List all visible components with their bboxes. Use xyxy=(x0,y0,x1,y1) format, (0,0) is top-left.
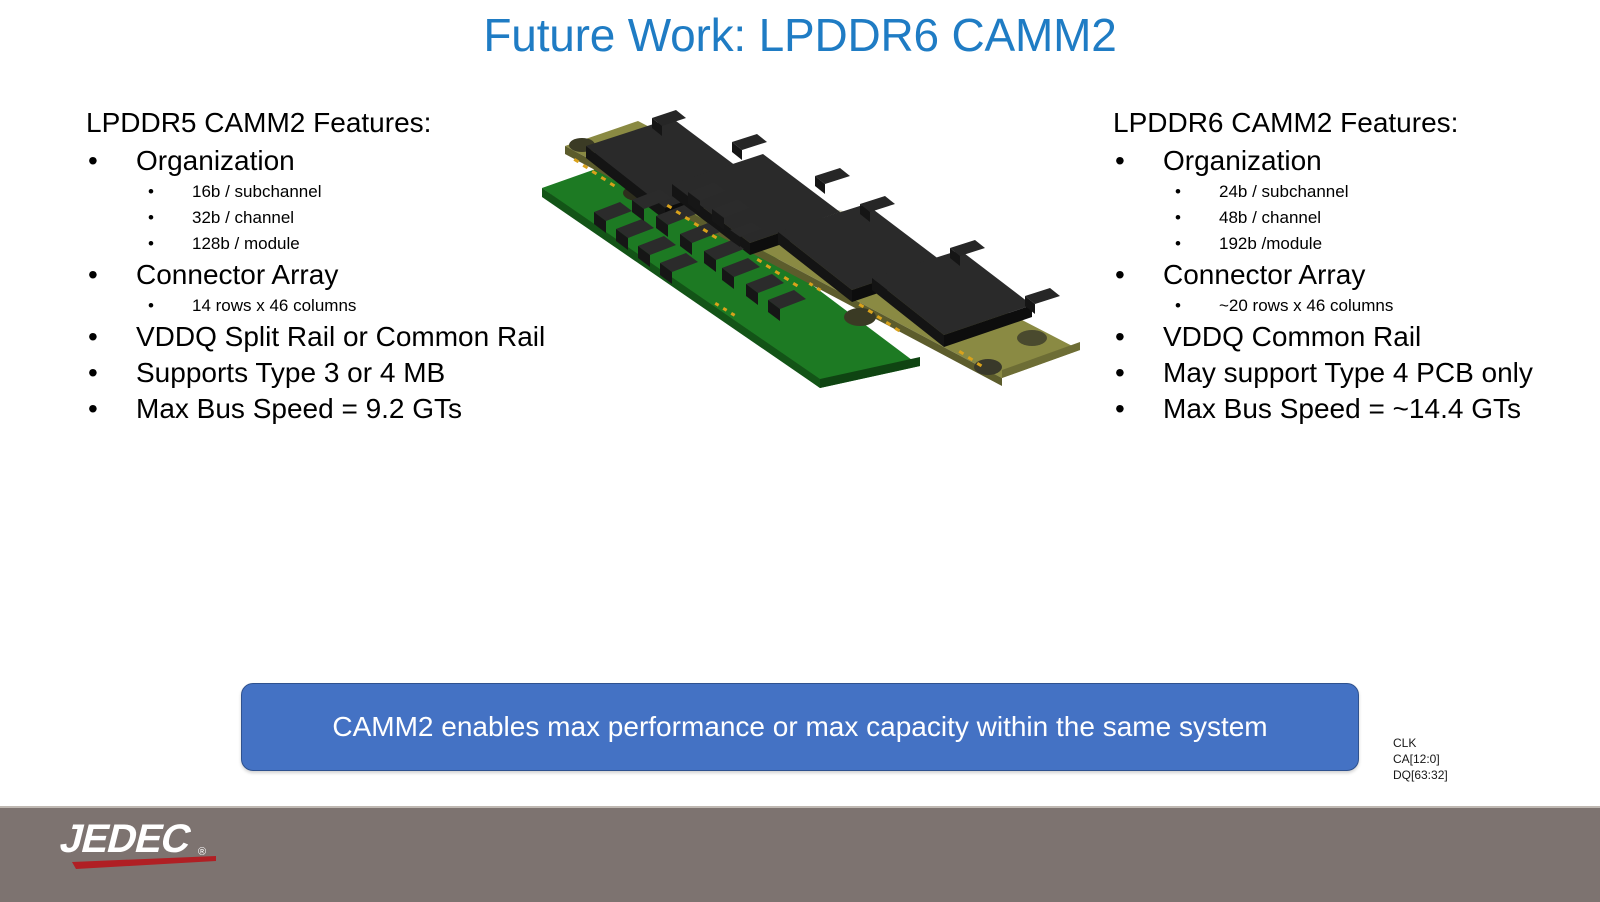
list-item: • Max Bus Speed = 9.2 GTs xyxy=(86,391,606,427)
callout-banner: CAMM2 enables max performance or max cap… xyxy=(241,683,1359,771)
lpddr6-bullet-list: • Organization • 24b / subchannel • 48b … xyxy=(1113,143,1600,427)
list-item: • ~20 rows x 46 columns xyxy=(1113,293,1600,319)
list-item: • Connector Array xyxy=(1113,257,1600,293)
bullet-dot-icon: • xyxy=(1115,143,1125,179)
list-item-label: 32b / channel xyxy=(192,208,294,227)
list-item-label: Max Bus Speed = 9.2 GTs xyxy=(136,393,462,424)
jedec-wordmark: JEDEC xyxy=(56,816,196,861)
list-item-label: 16b / subchannel xyxy=(192,182,322,201)
list-item: • May support Type 4 PCB only xyxy=(1113,355,1600,391)
bullet-dot-icon: • xyxy=(148,205,154,231)
list-item: • Organization xyxy=(1113,143,1600,179)
bullet-dot-icon: • xyxy=(1175,231,1181,257)
list-item: • 192b /module xyxy=(1113,231,1600,257)
page-title: Future Work: LPDDR6 CAMM2 xyxy=(0,8,1600,62)
list-item: • Max Bus Speed = ~14.4 GTs xyxy=(1113,391,1600,427)
bullet-dot-icon: • xyxy=(148,179,154,205)
list-item-label: VDDQ Common Rail xyxy=(1163,321,1421,352)
registered-mark: ® xyxy=(198,846,206,858)
bullet-dot-icon: • xyxy=(88,355,98,391)
bullet-dot-icon: • xyxy=(88,257,98,293)
bullet-dot-icon: • xyxy=(1115,257,1125,293)
list-item: • 48b / channel xyxy=(1113,205,1600,231)
signal-label-clk: CLK xyxy=(1393,735,1448,751)
jedec-logo: JEDEC ® xyxy=(46,812,236,878)
list-item-label: VDDQ Split Rail or Common Rail xyxy=(136,321,545,352)
list-item-label: Organization xyxy=(136,145,295,176)
bullet-dot-icon: • xyxy=(1115,319,1125,355)
list-item: • 24b / subchannel xyxy=(1113,179,1600,205)
list-item-label: Connector Array xyxy=(1163,259,1365,290)
lpddr6-features-column: LPDDR6 CAMM2 Features: • Organization • … xyxy=(1113,105,1600,427)
lpddr6-sublist-organization: • 24b / subchannel • 48b / channel • 192… xyxy=(1113,179,1600,257)
list-item-label: Organization xyxy=(1163,145,1322,176)
bullet-dot-icon: • xyxy=(88,143,98,179)
bullet-dot-icon: • xyxy=(1115,355,1125,391)
list-item-label: 14 rows x 46 columns xyxy=(192,296,356,315)
svg-text:JEDEC: JEDEC xyxy=(56,816,196,861)
bullet-dot-icon: • xyxy=(1175,293,1181,319)
signal-label-ca: CA[12:0] xyxy=(1393,751,1448,767)
bullet-dot-icon: • xyxy=(88,391,98,427)
list-item-label: 192b /module xyxy=(1219,234,1322,253)
list-item-label: Connector Array xyxy=(136,259,338,290)
lpddr6-sublist-connector-array: • ~20 rows x 46 columns xyxy=(1113,293,1600,319)
lpddr6-features-heading: LPDDR6 CAMM2 Features: xyxy=(1113,105,1600,141)
bullet-dot-icon: • xyxy=(1175,205,1181,231)
list-item-label: Max Bus Speed = ~14.4 GTs xyxy=(1163,393,1521,424)
bullet-dot-icon: • xyxy=(88,319,98,355)
list-item-label: ~20 rows x 46 columns xyxy=(1219,296,1393,315)
callout-banner-text: CAMM2 enables max performance or max cap… xyxy=(332,710,1267,744)
list-item-label: May support Type 4 PCB only xyxy=(1163,357,1533,388)
list-item-label: 128b / module xyxy=(192,234,300,253)
list-item-label: Supports Type 3 or 4 MB xyxy=(136,357,445,388)
camm2-module-3d-render xyxy=(520,88,1090,388)
signal-label-dq: DQ[63:32] xyxy=(1393,767,1448,783)
bullet-dot-icon: • xyxy=(148,231,154,257)
bullet-dot-icon: • xyxy=(1115,391,1125,427)
bullet-dot-icon: • xyxy=(1175,179,1181,205)
bullet-dot-icon: • xyxy=(148,293,154,319)
signal-label-block: CLK CA[12:0] DQ[63:32] xyxy=(1393,735,1448,783)
list-item-label: 48b / channel xyxy=(1219,208,1321,227)
list-item-label: 24b / subchannel xyxy=(1219,182,1349,201)
list-item: • VDDQ Common Rail xyxy=(1113,319,1600,355)
footer-bar xyxy=(0,806,1600,902)
